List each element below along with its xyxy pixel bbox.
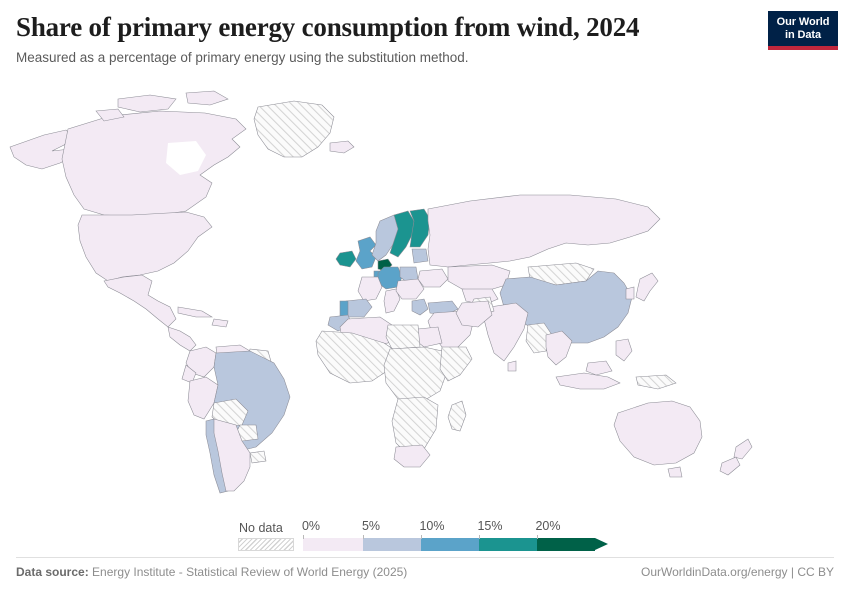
country-central-america[interactable] bbox=[168, 327, 196, 351]
country-greece[interactable] bbox=[412, 299, 428, 315]
chart-footer: Data source: Energy Institute - Statisti… bbox=[16, 565, 834, 579]
country-portugal[interactable] bbox=[340, 301, 348, 317]
region-central-africa[interactable] bbox=[384, 347, 448, 403]
country-new-zealand-south[interactable] bbox=[720, 457, 740, 475]
map-countries bbox=[10, 91, 752, 493]
country-cuba[interactable] bbox=[178, 307, 212, 317]
country-ireland[interactable] bbox=[336, 251, 356, 267]
attribution-link[interactable]: OurWorldinData.org/energy | CC BY bbox=[641, 565, 834, 579]
legend-color-ramp[interactable] bbox=[303, 538, 608, 551]
legend-tick-3 bbox=[479, 535, 480, 539]
country-indonesia[interactable] bbox=[556, 373, 620, 389]
legend-bin-0[interactable] bbox=[303, 538, 363, 551]
chart-subtitle: Measured as a percentage of primary ener… bbox=[16, 50, 834, 67]
country-kazakhstan[interactable] bbox=[448, 265, 510, 291]
data-source-prefix: Data source: bbox=[16, 565, 89, 579]
country-united-states[interactable] bbox=[78, 212, 212, 281]
data-source: Data source: Energy Institute - Statisti… bbox=[16, 565, 407, 579]
owid-logo-line1: Our World bbox=[777, 16, 830, 29]
country-new-zealand[interactable] bbox=[734, 439, 752, 459]
country-france[interactable] bbox=[358, 277, 382, 301]
country-korea[interactable] bbox=[626, 287, 634, 299]
country-papua-new-guinea[interactable] bbox=[636, 375, 676, 389]
country-borneo[interactable] bbox=[586, 361, 612, 375]
country-russia[interactable] bbox=[428, 195, 660, 267]
legend-tick-label-0: 0% bbox=[302, 519, 320, 533]
country-philippines[interactable] bbox=[616, 339, 632, 361]
country-greenland[interactable] bbox=[254, 101, 334, 157]
page-title: Share of primary energy consumption from… bbox=[16, 12, 834, 42]
country-iceland[interactable] bbox=[330, 141, 354, 153]
legend-tick-label-3: 15% bbox=[477, 519, 502, 533]
data-source-text: Energy Institute - Statistical Review of… bbox=[92, 565, 407, 579]
country-finland[interactable] bbox=[410, 209, 430, 247]
world-map[interactable] bbox=[0, 85, 850, 500]
legend-bin-3[interactable] bbox=[479, 538, 537, 551]
world-map-svg bbox=[0, 85, 850, 500]
country-central-europe[interactable] bbox=[396, 279, 424, 299]
country-canada[interactable] bbox=[62, 111, 246, 216]
country-canada-arctic-2[interactable] bbox=[186, 91, 228, 105]
country-sri-lanka[interactable] bbox=[508, 361, 516, 371]
legend-no-data-swatch[interactable] bbox=[238, 538, 294, 551]
country-canada-arctic-1[interactable] bbox=[118, 95, 176, 112]
footer-divider bbox=[16, 557, 834, 558]
owid-map-chart: Share of primary energy consumption from… bbox=[0, 0, 850, 600]
country-mexico[interactable] bbox=[104, 275, 176, 327]
region-east-africa[interactable] bbox=[440, 347, 472, 381]
legend-tick-1 bbox=[363, 535, 364, 539]
legend-tick-label-4: 20% bbox=[535, 519, 560, 533]
owid-logo[interactable]: Our World in Data bbox=[768, 11, 838, 50]
map-legend: No data 0% 5% 10% 15% 20% bbox=[0, 508, 850, 554]
country-tasmania[interactable] bbox=[668, 467, 682, 477]
country-japan[interactable] bbox=[636, 273, 658, 301]
legend-tick-label-2: 10% bbox=[419, 519, 444, 533]
country-australia[interactable] bbox=[614, 401, 702, 465]
chart-header: Share of primary energy consumption from… bbox=[16, 12, 834, 67]
country-hispaniola[interactable] bbox=[212, 319, 228, 327]
owid-logo-line2: in Data bbox=[785, 29, 821, 42]
legend-tick-2 bbox=[421, 535, 422, 539]
legend-ramp-arrow bbox=[595, 538, 608, 550]
country-libya-sahara[interactable] bbox=[386, 325, 420, 349]
legend-bin-4[interactable] bbox=[537, 538, 595, 551]
country-baltics[interactable] bbox=[412, 249, 428, 263]
legend-tick-0 bbox=[303, 535, 304, 539]
country-ukraine[interactable] bbox=[418, 269, 448, 287]
country-uruguay[interactable] bbox=[250, 451, 266, 463]
legend-no-data-label: No data bbox=[239, 521, 283, 535]
legend-tick-label-1: 5% bbox=[362, 519, 380, 533]
country-madagascar[interactable] bbox=[448, 401, 466, 431]
country-south-africa[interactable] bbox=[394, 445, 430, 467]
legend-bin-1[interactable] bbox=[363, 538, 421, 551]
legend-bin-2[interactable] bbox=[421, 538, 479, 551]
legend-tick-4 bbox=[537, 535, 538, 539]
